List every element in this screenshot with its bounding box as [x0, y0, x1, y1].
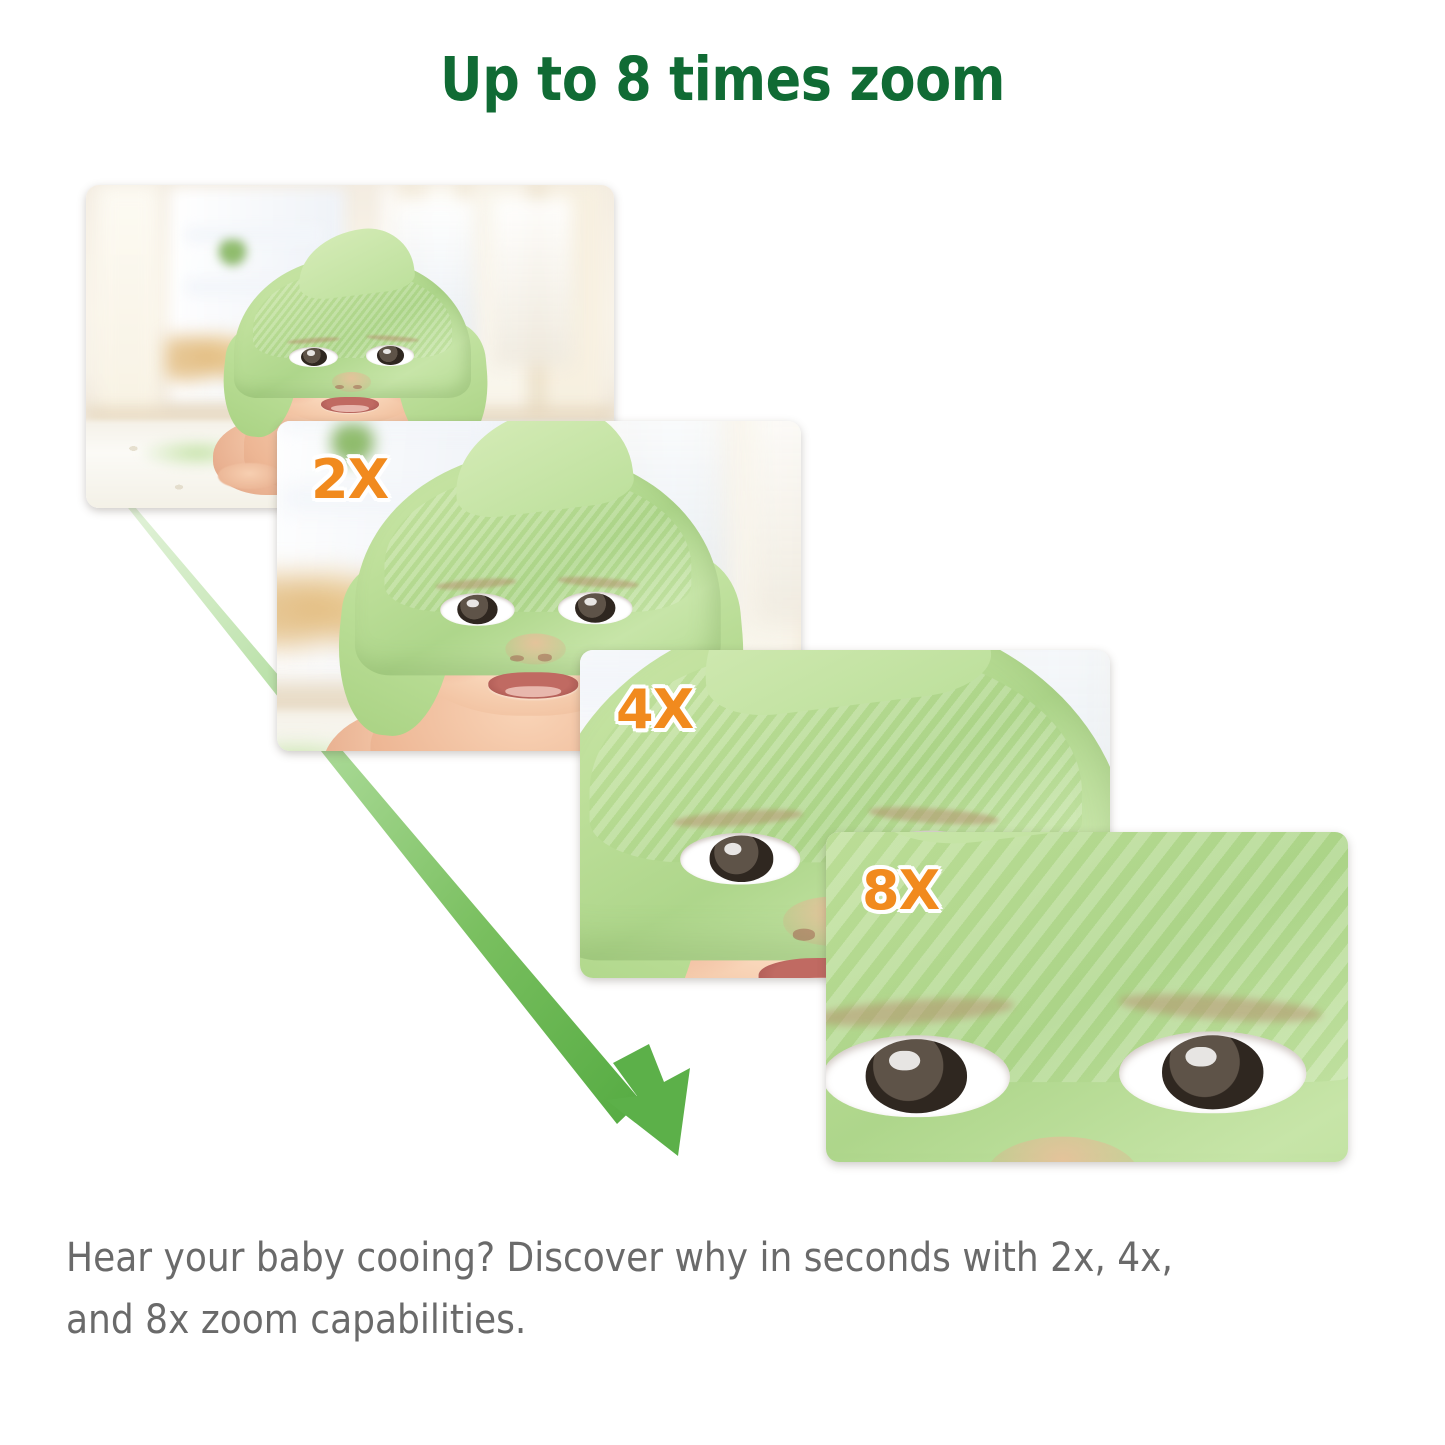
page-title: Up to 8 times zoom [101, 44, 1344, 115]
photo-card-8x[interactable]: 8X [826, 832, 1348, 1162]
zoom-badge-4x: 4X [616, 683, 693, 737]
zoom-badge-8x: 8X [862, 864, 939, 918]
zoom-feature-panel: Up to 8 times zoom [0, 0, 1445, 1445]
zoom-badge-2x: 2X [311, 453, 388, 507]
feature-caption: Hear your baby cooing? Discover why in s… [66, 1227, 1227, 1351]
